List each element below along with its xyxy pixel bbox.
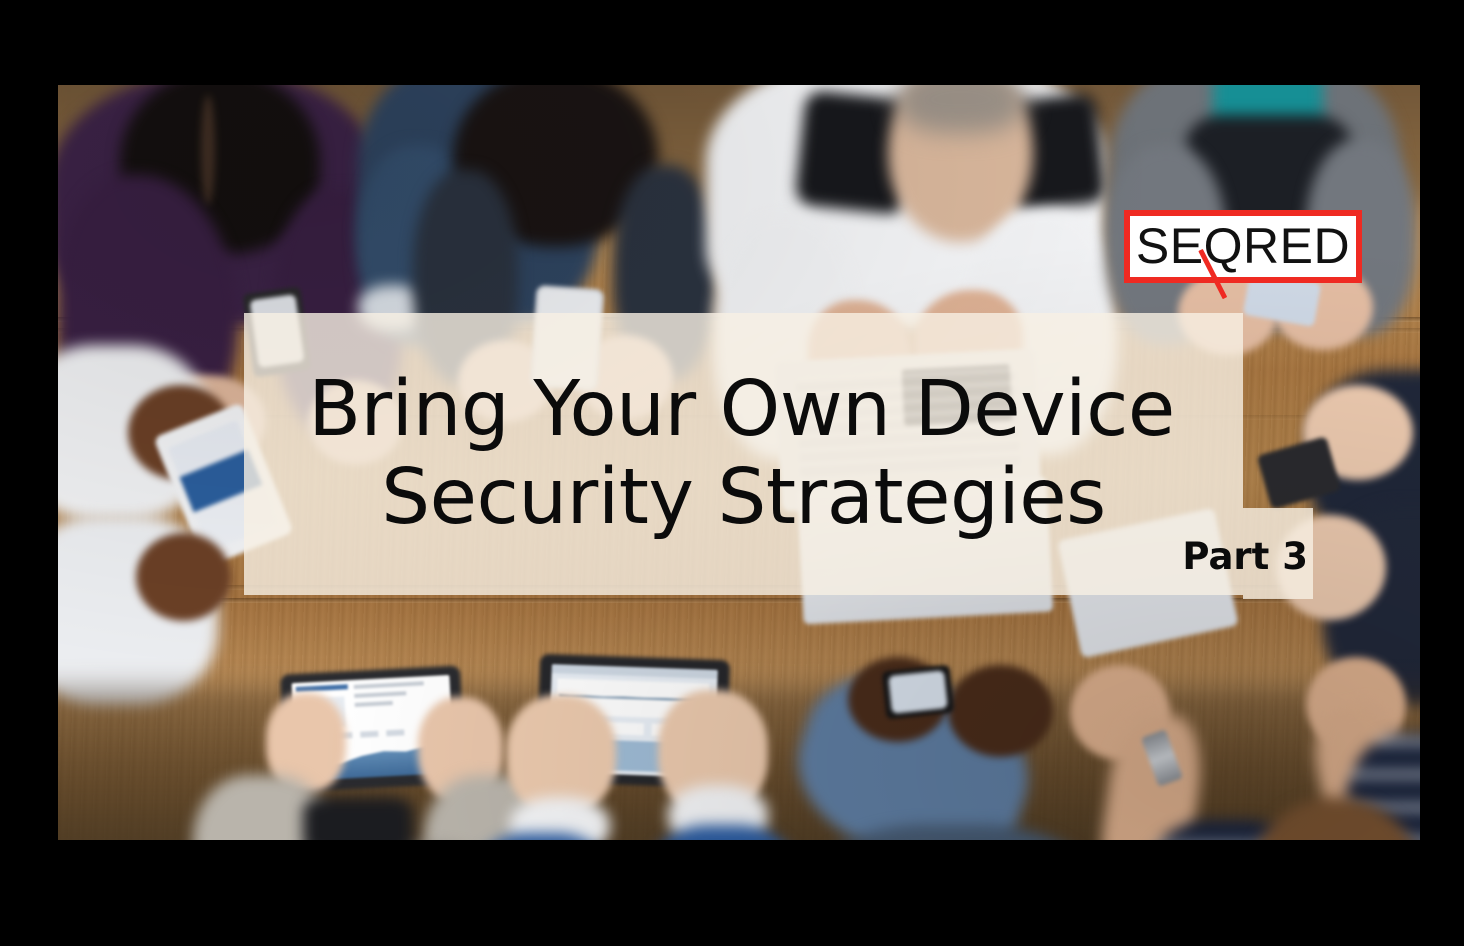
person-purple-hairpart [201, 95, 215, 205]
person-denimjacket-hand-right [948, 665, 1053, 757]
person-left-lower-hand [136, 533, 231, 621]
title-line-2: Security Strategies [381, 457, 1105, 539]
slide-canvas: Bring Your Own Device Security Strategie… [0, 0, 1464, 946]
person-bald-hair-fringe [896, 85, 1026, 133]
title-block: Bring Your Own Device Security Strategie… [244, 313, 1243, 595]
logo-wordmark: SEQRED [1124, 210, 1362, 283]
seqred-logo[interactable]: SEQRED [1124, 210, 1362, 283]
person-bl-collar [303, 797, 413, 840]
part-label: Part 3 [1128, 536, 1308, 578]
smartphone-bottom-center-screen [888, 670, 948, 714]
title-line-1: Bring Your Own Device [308, 369, 1175, 451]
